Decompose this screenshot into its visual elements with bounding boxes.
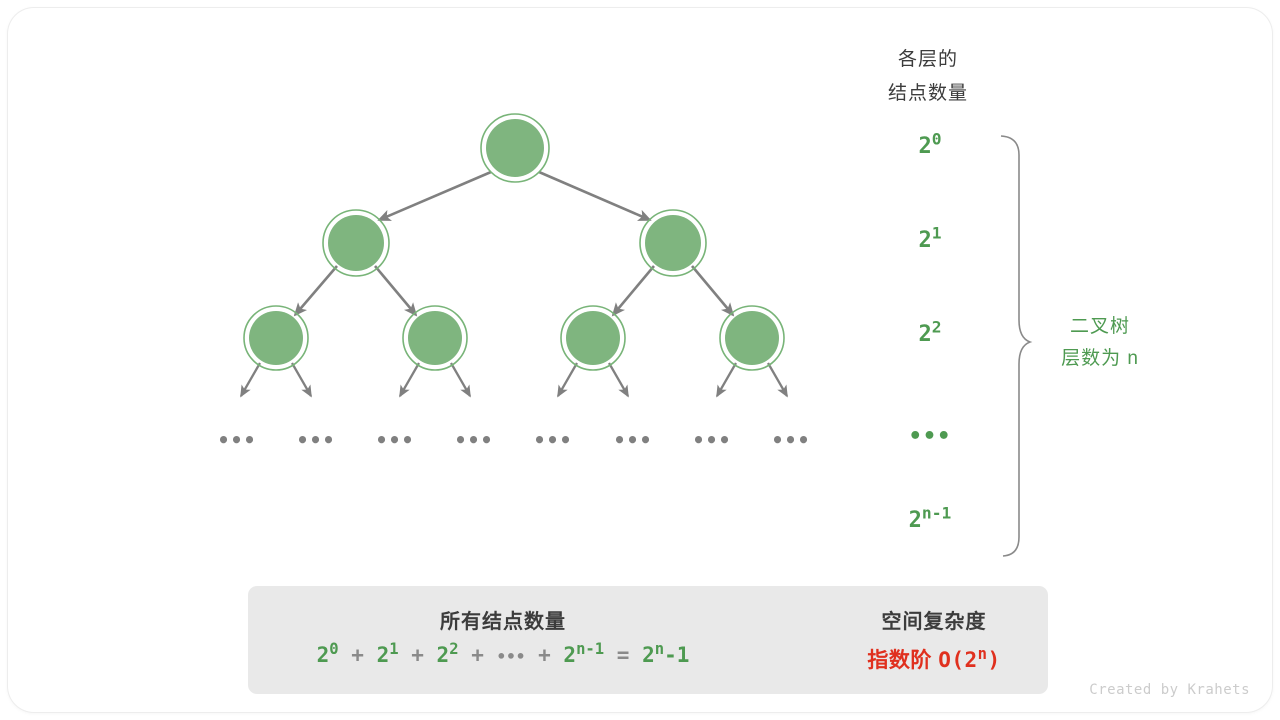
- figure-canvas: 各层的 结点数量 20 21 22 ••• 2n-1 二叉树 层数为 n •••…: [0, 0, 1280, 720]
- summary-panel: [248, 586, 1048, 694]
- tree-node: [640, 210, 706, 276]
- tree-nodes: [244, 114, 784, 370]
- brace-note-line1: 二叉树: [1010, 311, 1190, 338]
- level-count-last: 2n-1: [870, 508, 990, 533]
- leaf-ellipsis: •••: [217, 430, 257, 450]
- complexity-value: 指数阶 O(2n): [826, 644, 1042, 674]
- summary-title: 所有结点数量: [248, 605, 758, 634]
- level-count-1: 21: [870, 228, 990, 253]
- tree-node: [561, 306, 625, 370]
- watermark: Created by Krahets: [1089, 682, 1250, 698]
- leaf-ellipsis: •••: [454, 430, 494, 450]
- figure-card: 各层的 结点数量 20 21 22 ••• 2n-1 二叉树 层数为 n •••…: [8, 8, 1272, 712]
- tree-edges: [295, 172, 733, 315]
- column-header-line1: 各层的: [863, 44, 993, 71]
- complexity-title: 空间复杂度: [836, 605, 1032, 634]
- tree-node-root: [481, 114, 549, 182]
- leaf-edges: [241, 363, 787, 396]
- column-header-line2: 结点数量: [863, 78, 993, 105]
- level-count-2: 22: [870, 322, 990, 347]
- tree-node: [720, 306, 784, 370]
- brace-note-line2: 层数为 n: [1010, 343, 1190, 370]
- leaf-ellipsis: •••: [771, 430, 811, 450]
- leaf-ellipsis: •••: [533, 430, 573, 450]
- leaf-ellipsis: •••: [296, 430, 336, 450]
- leaf-ellipsis: •••: [375, 430, 415, 450]
- tree-node: [244, 306, 308, 370]
- level-count-ellipsis: •••: [870, 424, 990, 449]
- tree-node: [323, 210, 389, 276]
- leaf-ellipsis: •••: [692, 430, 732, 450]
- tree-node: [403, 306, 467, 370]
- level-count-0: 20: [870, 134, 990, 159]
- leaf-ellipsis: •••: [613, 430, 653, 450]
- summary-formula: 20 + 21 + 22 + ••• + 2n-1 = 2n-1: [248, 643, 758, 667]
